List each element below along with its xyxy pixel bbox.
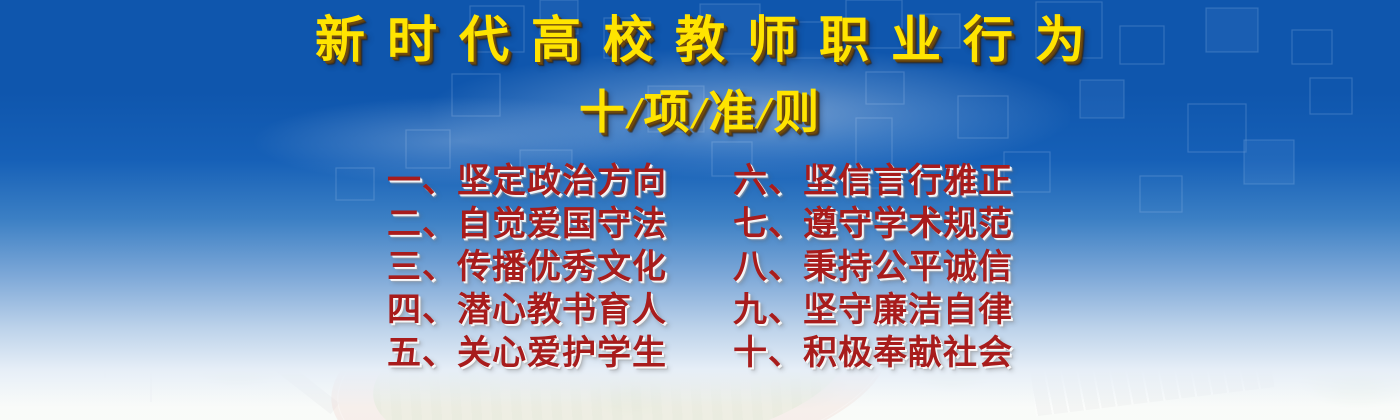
rule-item: 八、秉持公平诚信: [733, 246, 1013, 289]
subtitle-part-2: 项: [644, 87, 692, 138]
subtitle-part-1: 十: [579, 87, 627, 138]
subtitle-part-3: 准: [708, 87, 756, 138]
rule-item: 九、坚守廉洁自律: [733, 289, 1013, 332]
subtitle-separator: /: [627, 87, 644, 138]
rule-item: 六、坚信言行雅正: [733, 160, 1013, 203]
rule-item: 七、遵守学术规范: [733, 203, 1013, 246]
rule-item: 三、传播优秀文化: [387, 246, 667, 289]
rule-item: 二、自觉爱国守法: [387, 203, 667, 246]
subtitle-separator: /: [692, 87, 709, 138]
rule-item: 十、积极奉献社会: [733, 332, 1013, 375]
banner: 新时代高校教师职业行为 十/项/准/则 一、坚定政治方向 二、自觉爱国守法 三、…: [0, 0, 1400, 420]
banner-content: 新时代高校教师职业行为 十/项/准/则 一、坚定政治方向 二、自觉爱国守法 三、…: [0, 0, 1400, 420]
rules-list: 一、坚定政治方向 二、自觉爱国守法 三、传播优秀文化 四、潜心教书育人 五、关心…: [0, 160, 1400, 375]
rules-column-left: 一、坚定政治方向 二、自觉爱国守法 三、传播优秀文化 四、潜心教书育人 五、关心…: [387, 160, 667, 375]
banner-subtitle: 十/项/准/则: [0, 85, 1400, 141]
rules-column-right: 六、坚信言行雅正 七、遵守学术规范 八、秉持公平诚信 九、坚守廉洁自律 十、积极…: [733, 160, 1013, 375]
rule-item: 五、关心爱护学生: [387, 332, 667, 375]
subtitle-separator: /: [756, 87, 773, 138]
rule-item: 一、坚定政治方向: [387, 160, 667, 203]
banner-title: 新时代高校教师职业行为: [0, 12, 1400, 68]
rule-item: 四、潜心教书育人: [387, 289, 667, 332]
subtitle-part-4: 则: [773, 87, 821, 138]
